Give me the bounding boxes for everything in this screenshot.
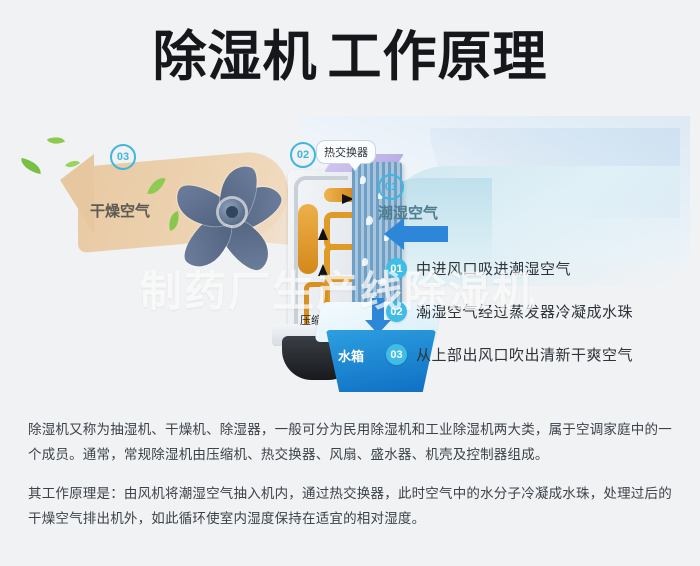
heat-exchanger-callout: 热交换器: [316, 140, 376, 164]
infographic-page: 除湿机工作原理: [0, 0, 700, 566]
step-text: 潮湿空气经过蒸发器冷凝成水珠: [416, 301, 633, 322]
heat-exchanger-number-badge: 02: [290, 142, 316, 168]
description-block: 除湿机又称为抽湿机、干燥机、除湿器，一般可分为民用除湿机和工业除湿机两大类，属于…: [28, 418, 676, 546]
step-number-badge: 01: [386, 258, 407, 279]
water-tank-label: 水箱: [338, 346, 364, 365]
fan-hub: [219, 199, 245, 225]
flow-arrow-up-icon: [318, 228, 328, 240]
step-text: 从上部出风口吹出清新干爽空气: [416, 344, 633, 365]
step-number-badge: 03: [386, 344, 407, 365]
page-title: 除湿机工作原理: [0, 28, 700, 87]
receiver-tank: [298, 204, 318, 274]
water-droplet-icon: [360, 176, 366, 184]
list-item: 02 潮湿空气经过蒸发器冷凝成水珠: [386, 301, 686, 322]
fan-illustration: [186, 166, 296, 276]
leaf-icon: [19, 158, 43, 174]
list-item: 03 从上部出风口吹出清新干爽空气: [386, 344, 686, 365]
dry-air-number-badge: 03: [110, 144, 136, 170]
paragraph-2: 其工作原理是：由风机将潮湿空气抽入机内，通过热交换器，此时空气中的水分子冷凝成水…: [28, 482, 676, 532]
water-droplet-icon: [366, 216, 373, 225]
humid-air-number-badge: 01: [378, 174, 404, 200]
air-intake-arrow-icon: [404, 226, 448, 242]
flow-arrow-up-icon: [318, 264, 328, 276]
page-title-part1: 除湿机: [153, 27, 318, 87]
step-number-badge: 02: [386, 301, 407, 322]
steps-list: 01 中进风口吸进潮湿空气 02 潮湿空气经过蒸发器冷凝成水珠 03 从上部出风…: [386, 258, 686, 387]
list-item: 01 中进风口吸进潮湿空气: [386, 258, 686, 279]
leaf-icon: [47, 133, 65, 147]
step-text: 中进风口吸进潮湿空气: [416, 258, 571, 279]
condensate-arrow-icon: [372, 298, 384, 320]
paragraph-1: 除湿机又称为抽湿机、干燥机、除湿器，一般可分为民用除湿机和工业除湿机两大类，属于…: [28, 418, 676, 468]
water-droplet-icon: [362, 258, 368, 266]
humid-air-label: 潮湿空气: [378, 202, 438, 223]
page-title-part2: 工作原理: [328, 27, 548, 87]
dry-air-label: 干燥空气: [90, 200, 150, 221]
